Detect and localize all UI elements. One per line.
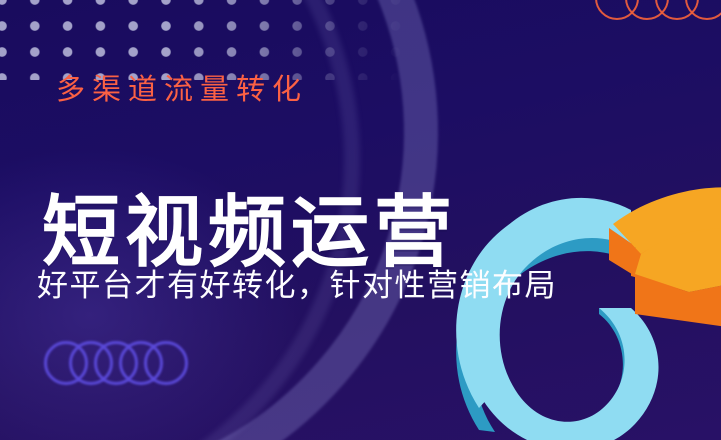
poster-text-block: 多渠道流量转化 短视频运营 好平台才有好转化，针对性营销布局 [0, 0, 721, 440]
subtitle-tagline: 好平台才有好转化，针对性营销布局 [37, 260, 557, 305]
poster-canvas: 多渠道流量转化 短视频运营 好平台才有好转化，针对性营销布局 [0, 0, 721, 440]
eyebrow-tagline: 多渠道流量转化 [56, 66, 308, 108]
